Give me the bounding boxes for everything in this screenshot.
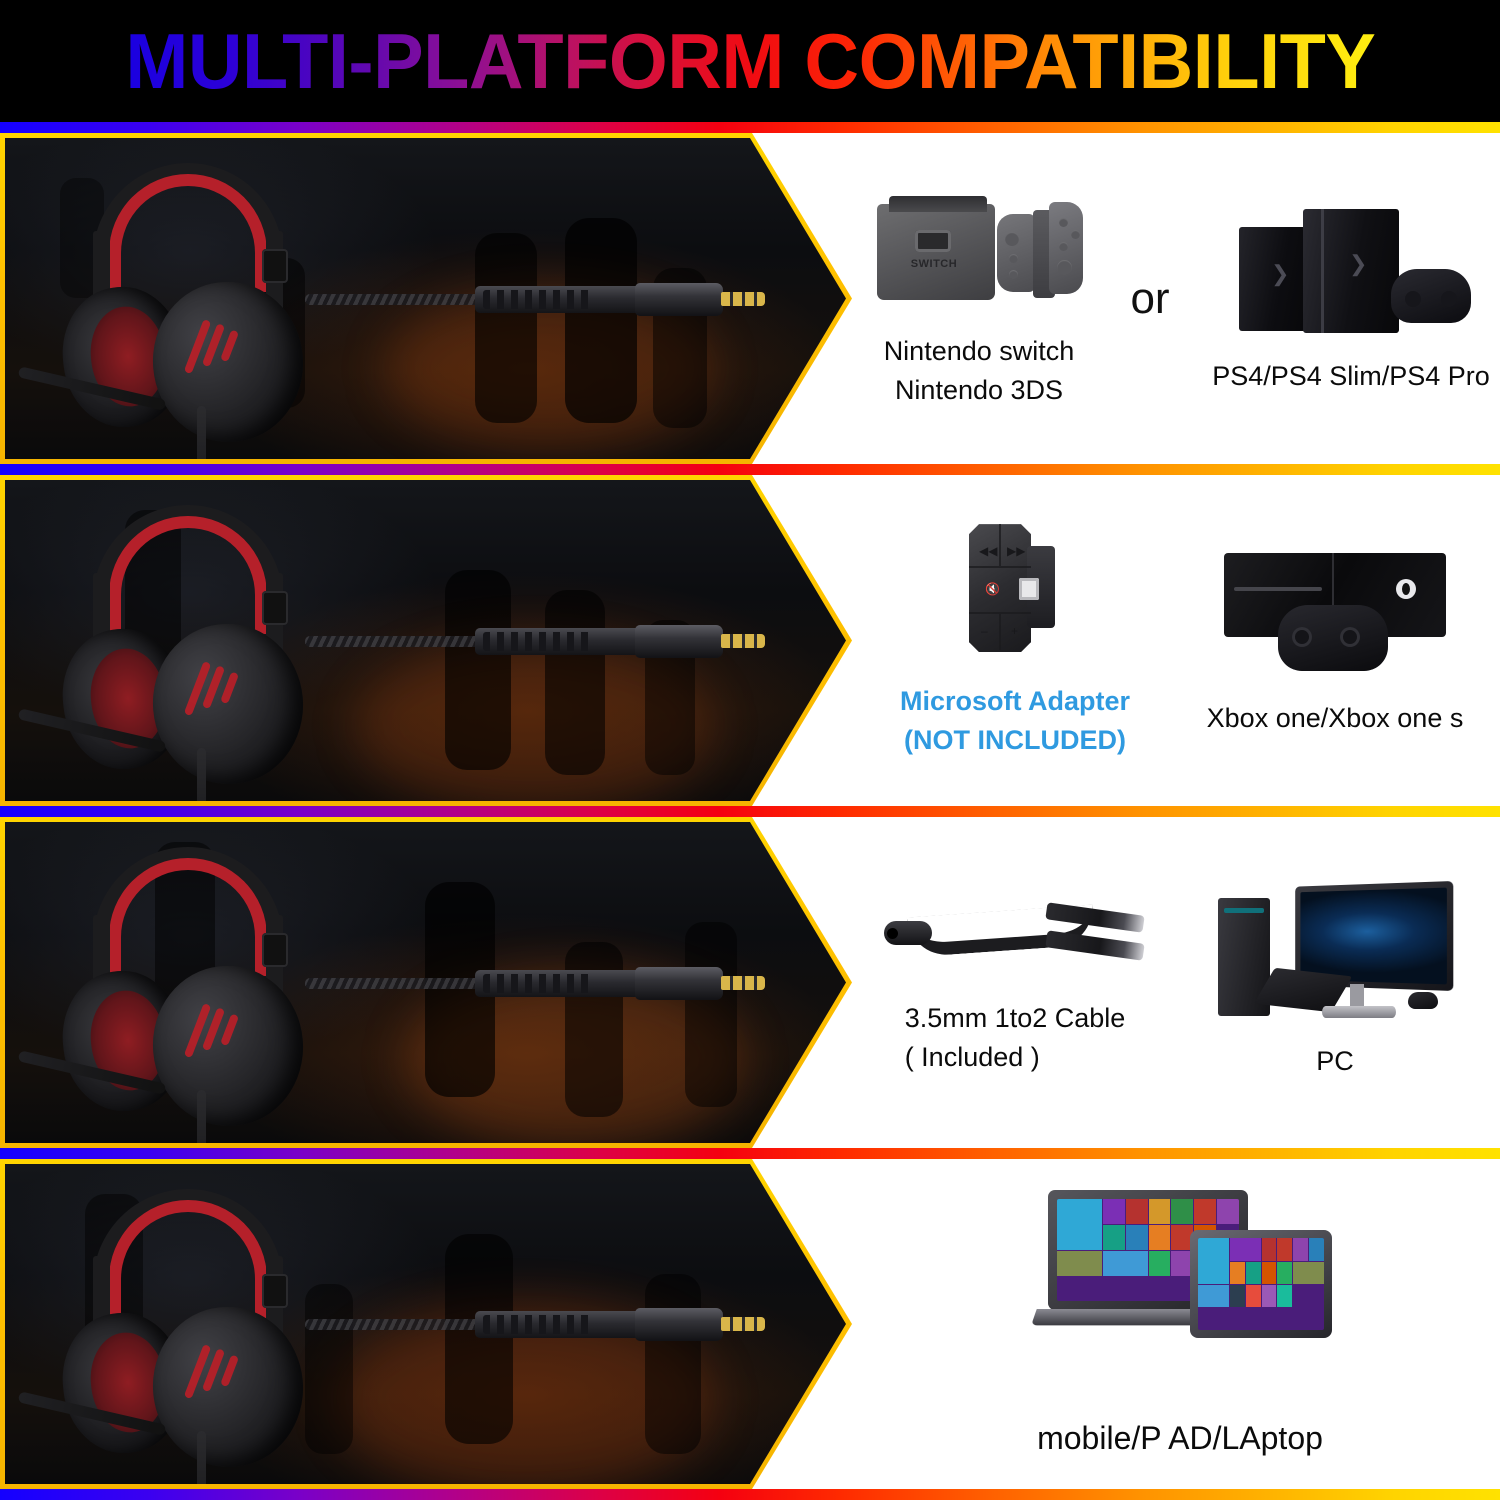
title-bar: MULTI-PLATFORM COMPATIBILITY bbox=[0, 0, 1500, 122]
device-caption: PS4/PS4 Slim/PS4 Pro bbox=[1212, 357, 1490, 395]
battle-scene-backdrop bbox=[5, 138, 847, 459]
splitter-cable-icon bbox=[880, 889, 1150, 981]
caption-line-1: Xbox one/Xbox one s bbox=[1207, 699, 1464, 737]
device-pc[interactable]: PC bbox=[1175, 817, 1495, 1148]
divider-2 bbox=[0, 806, 1500, 817]
device-caption: 3.5mm 1to2 Cable ( Included ) bbox=[905, 999, 1126, 1076]
divider-top bbox=[0, 122, 1500, 133]
page-title: MULTI-PLATFORM COMPATIBILITY bbox=[125, 16, 1375, 107]
divider-3 bbox=[0, 1148, 1500, 1159]
jack-trrs-pin bbox=[721, 292, 765, 306]
nintendo-switch-icon: SWITCH bbox=[873, 188, 1085, 306]
headset-cord bbox=[197, 406, 206, 459]
caption-line-1: mobile/P AD/LAptop bbox=[1037, 1416, 1323, 1461]
device-list-nintendo: SWITCH Nintendo switch Nintendo 3DS bbox=[860, 133, 1500, 464]
device-caption: PC bbox=[1316, 1042, 1354, 1080]
chevron-panel-nintendo bbox=[0, 133, 852, 464]
headset-image bbox=[35, 499, 335, 781]
headset-cord bbox=[197, 748, 206, 801]
row-nintendo: SWITCH Nintendo switch Nintendo 3DS bbox=[0, 133, 1500, 464]
device-nintendo-switch[interactable]: SWITCH Nintendo switch Nintendo 3DS bbox=[860, 133, 1098, 464]
headset-cord bbox=[197, 1431, 206, 1484]
jack-trrs-pin bbox=[721, 1317, 765, 1331]
device-microsoft-adapter[interactable]: ◀◀ ▶▶ 🔇 – + Microsoft Adapter (NOT INCLU… bbox=[865, 475, 1165, 806]
cable-grip bbox=[475, 286, 645, 313]
caption-line-2: ( Included ) bbox=[905, 1038, 1126, 1076]
caption-line-1: Nintendo switch bbox=[884, 332, 1075, 370]
row-xbox: ◀◀ ▶▶ 🔇 – + Microsoft Adapter (NOT INCLU… bbox=[0, 475, 1500, 806]
device-caption: Xbox one/Xbox one s bbox=[1207, 699, 1464, 737]
battle-scene-backdrop bbox=[5, 822, 847, 1143]
headset-image bbox=[35, 1183, 335, 1465]
xbox-one-console-icon bbox=[1220, 543, 1450, 679]
jack-barrel bbox=[635, 283, 723, 316]
tablet-start-screen bbox=[1198, 1238, 1324, 1330]
battle-scene-backdrop bbox=[5, 1164, 847, 1484]
device-xbox-one[interactable]: Xbox one/Xbox one s bbox=[1175, 475, 1495, 806]
audio-cable-jack bbox=[305, 1304, 765, 1344]
or-label: or bbox=[1130, 274, 1169, 324]
device-laptop-tablet[interactable]: mobile/P AD/LAptop bbox=[940, 1159, 1420, 1489]
battle-scene-backdrop bbox=[5, 480, 847, 801]
device-splitter-cable[interactable]: 3.5mm 1to2 Cable ( Included ) bbox=[865, 817, 1165, 1148]
chevron-panel-mobile bbox=[0, 1159, 852, 1489]
switch-wordmark: SWITCH bbox=[903, 258, 965, 270]
headset-cord bbox=[197, 1090, 206, 1143]
device-list-pc: 3.5mm 1to2 Cable ( Included ) PC bbox=[860, 817, 1500, 1148]
audio-cable-jack bbox=[305, 963, 765, 1003]
row-mobile: mobile/P AD/LAptop bbox=[0, 1159, 1500, 1489]
jack-barrel bbox=[635, 625, 723, 658]
caption-line-2: Nintendo 3DS bbox=[884, 371, 1075, 409]
device-caption: Nintendo switch Nintendo 3DS bbox=[884, 332, 1075, 409]
audio-cable-jack bbox=[305, 621, 765, 661]
jack-barrel bbox=[635, 1308, 723, 1341]
caption-line-1: PS4/PS4 Slim/PS4 Pro bbox=[1212, 357, 1490, 395]
microsoft-adapter-icon: ◀◀ ▶▶ 🔇 – + bbox=[959, 522, 1071, 654]
cable-grip bbox=[475, 1311, 645, 1338]
audio-cable-jack bbox=[305, 279, 765, 319]
chevron-panel-pc bbox=[0, 817, 852, 1148]
headset-image bbox=[35, 157, 335, 439]
or-separator: or bbox=[1098, 133, 1202, 464]
laptop-tablet-icon bbox=[1030, 1186, 1330, 1346]
infographic-page: MULTI-PLATFORM COMPATIBILITY bbox=[0, 0, 1500, 1500]
device-caption: mobile/P AD/LAptop bbox=[1037, 1416, 1323, 1461]
jack-trrs-pin bbox=[721, 976, 765, 990]
jack-barrel bbox=[635, 967, 723, 1000]
device-caption: Microsoft Adapter (NOT INCLUDED) bbox=[900, 682, 1130, 759]
cable-grip bbox=[475, 970, 645, 997]
tablet-device bbox=[1190, 1230, 1332, 1338]
desktop-pc-icon bbox=[1210, 884, 1460, 1026]
caption-line-1: PC bbox=[1316, 1042, 1354, 1080]
device-ps4[interactable]: ❯ ❯ PS4/PS4 Slim/PS4 Pro bbox=[1202, 133, 1500, 464]
device-list-mobile: mobile/P AD/LAptop bbox=[860, 1159, 1500, 1489]
jack-trrs-pin bbox=[721, 634, 765, 648]
divider-bottom bbox=[0, 1489, 1500, 1500]
caption-line-2: (NOT INCLUDED) bbox=[900, 721, 1130, 759]
ps4-console-icon: ❯ ❯ bbox=[1231, 201, 1471, 335]
chevron-panel-xbox bbox=[0, 475, 852, 806]
headset-image bbox=[35, 841, 335, 1123]
device-list-xbox: ◀◀ ▶▶ 🔇 – + Microsoft Adapter (NOT INCLU… bbox=[860, 475, 1500, 806]
caption-line-1: Microsoft Adapter bbox=[900, 682, 1130, 720]
caption-line-1: 3.5mm 1to2 Cable bbox=[905, 999, 1126, 1037]
divider-1 bbox=[0, 464, 1500, 475]
row-pc: 3.5mm 1to2 Cable ( Included ) PC bbox=[0, 817, 1500, 1148]
cable-grip bbox=[475, 628, 645, 655]
